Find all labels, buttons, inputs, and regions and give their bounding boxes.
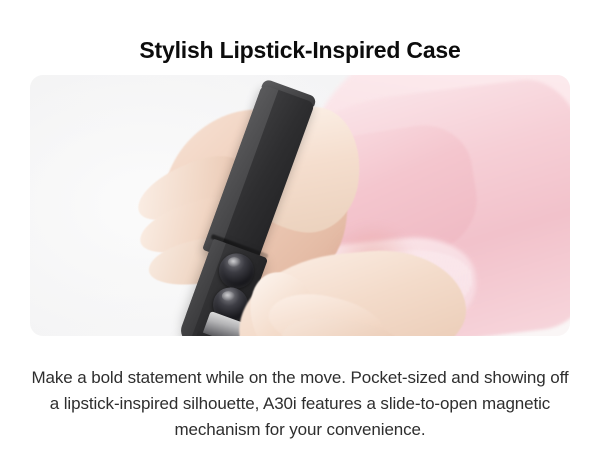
product-description: Make a bold statement while on the move.… [28,365,572,443]
product-feature-card: Stylish Lipstick-Inspired Case [0,0,600,450]
product-photo [30,75,570,336]
hero-image-panel [30,75,570,336]
page-title: Stylish Lipstick-Inspired Case [0,35,600,65]
